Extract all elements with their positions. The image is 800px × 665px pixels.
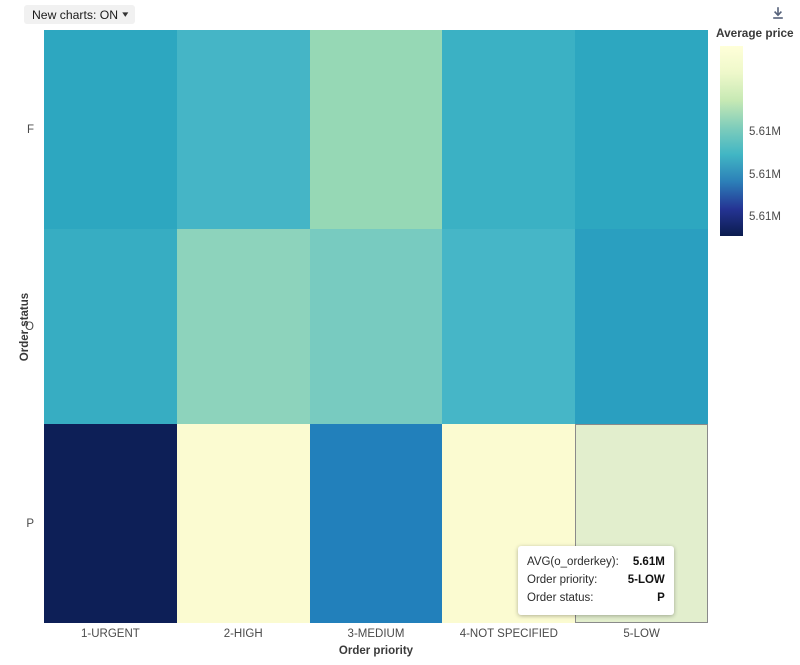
heatmap-cell[interactable] <box>44 424 177 623</box>
x-axis-tick-label: 1-URGENT <box>44 625 177 643</box>
heatmap-cell[interactable] <box>575 229 708 424</box>
heatmap-cell[interactable] <box>44 229 177 424</box>
heatmap-cell[interactable] <box>442 30 575 229</box>
tooltip-label: Order status: <box>527 589 593 607</box>
heatmap-cell[interactable] <box>442 229 575 424</box>
new-charts-toggle-label: New charts: ON <box>32 8 118 22</box>
heatmap-grid <box>44 30 708 623</box>
tooltip-value: P <box>657 589 665 607</box>
download-button[interactable] <box>768 4 788 22</box>
legend-color-bar <box>720 46 743 236</box>
x-axis-tick-label: 3-MEDIUM <box>310 625 443 643</box>
tooltip-label: AVG(o_orderkey): <box>527 553 619 571</box>
tooltip-value: 5-LOW <box>628 571 665 589</box>
y-axis-tick-label: P <box>26 518 34 530</box>
new-charts-toggle-button[interactable]: New charts: ON ▾ <box>24 5 135 24</box>
heatmap-cell[interactable] <box>575 30 708 229</box>
heatmap-cell[interactable] <box>310 229 443 424</box>
y-axis-tick-label: F <box>27 124 34 136</box>
color-legend: Average price 5.61M5.61M5.61M <box>716 26 800 236</box>
tooltip-row: Order priority:5-LOW <box>527 571 665 589</box>
legend-title: Average price <box>716 26 800 40</box>
heatmap-cell[interactable] <box>310 30 443 229</box>
x-axis-tick-label: 4-NOT SPECIFIED <box>442 625 575 643</box>
heatmap-plot-area <box>44 30 708 623</box>
x-axis-title: Order priority <box>44 645 708 657</box>
x-axis-tick-label: 5-LOW <box>575 625 708 643</box>
chevron-down-icon: ▾ <box>122 10 128 19</box>
y-axis-tick-label: O <box>25 321 34 333</box>
tooltip-label: Order priority: <box>527 571 597 589</box>
x-axis-tick-label: 2-HIGH <box>177 625 310 643</box>
tooltip-row: AVG(o_orderkey):5.61M <box>527 553 665 571</box>
legend-body: 5.61M5.61M5.61M <box>716 46 800 236</box>
heatmap-cell[interactable] <box>177 424 310 623</box>
y-axis-ticks: FOP <box>0 30 44 623</box>
legend-tick-label: 5.61M <box>749 169 781 181</box>
heatmap-cell[interactable] <box>177 229 310 424</box>
legend-tick-label: 5.61M <box>749 126 781 138</box>
download-icon <box>771 6 785 20</box>
hover-tooltip: AVG(o_orderkey):5.61MOrder priority:5-LO… <box>518 546 674 615</box>
tooltip-row: Order status:P <box>527 589 665 607</box>
heatmap-cell[interactable] <box>177 30 310 229</box>
tooltip-value: 5.61M <box>633 553 665 571</box>
x-axis-ticks: 1-URGENT2-HIGH3-MEDIUM4-NOT SPECIFIED5-L… <box>44 625 708 643</box>
heatmap-cell[interactable] <box>44 30 177 229</box>
heatmap-view: New charts: ON ▾ Order status FOP 1-URGE… <box>0 0 800 665</box>
heatmap-cell[interactable] <box>310 424 443 623</box>
legend-tick-label: 5.61M <box>749 211 781 223</box>
chart-toolbar: New charts: ON ▾ <box>0 0 800 28</box>
